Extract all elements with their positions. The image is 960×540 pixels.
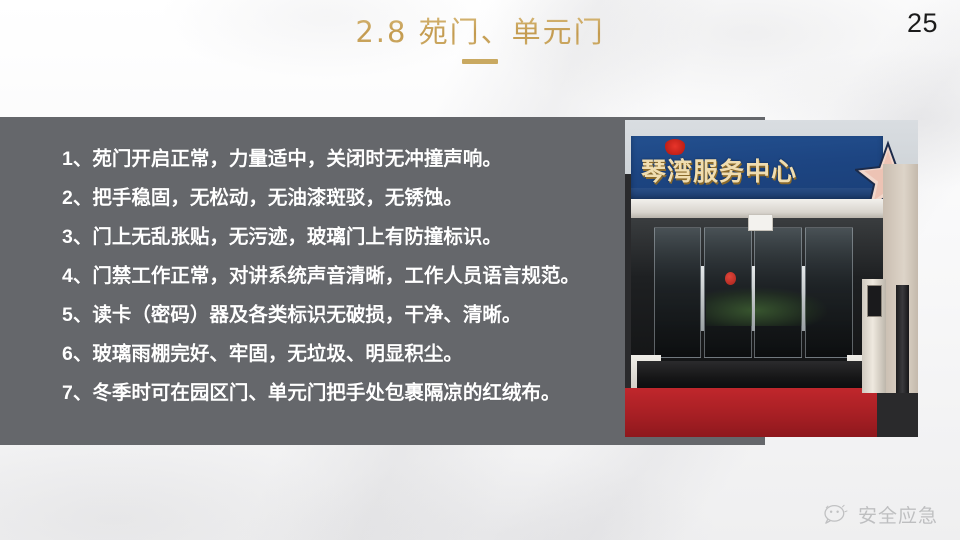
wechat-logo-icon [823, 502, 849, 528]
list-item-number: 5、 [62, 300, 92, 330]
list-item-number: 1、 [62, 144, 92, 174]
photo-signboard-text: 琴湾服务中心 [641, 152, 797, 188]
photo-glass-door [654, 227, 702, 358]
photo-door-mullion [752, 266, 755, 332]
watermark-text: 安全应急 [858, 501, 938, 528]
slide-canvas: 25 2.8 苑门、单元门 1、 苑门开启正常，力量适中，关闭时无冲撞声响。 2… [0, 0, 960, 540]
photo-red-decor [725, 272, 736, 285]
photo-granite-step [637, 361, 871, 390]
title-underline-accent [462, 59, 498, 64]
list-item-text: 门禁工作正常，对讲系统声音清晰，工作人员语言规范。 [92, 261, 580, 291]
photo-content: 琴湾服务中心 [625, 120, 918, 437]
photo-gate-post [896, 285, 909, 393]
photo-door-mullion [802, 266, 805, 332]
list-item: 7、 冬季时可在园区门、单元门把手处包裹隔凉的红绒布。 [62, 378, 722, 417]
title-block: 2.8 苑门、单元门 [0, 14, 960, 64]
list-item-text: 读卡（密码）器及各类标识无破损，干净、清晰。 [92, 300, 521, 330]
photo-door-mullion [701, 266, 704, 332]
photo-red-carpet [625, 388, 877, 437]
list-item-number: 7、 [62, 378, 92, 408]
list-item-number: 3、 [62, 222, 92, 252]
list-item-number: 2、 [62, 183, 92, 213]
list-item: 5、 读卡（密码）器及各类标识无破损，干净、清晰。 [62, 300, 722, 339]
footer-watermark: 安全应急 [823, 501, 938, 528]
list-item-text: 玻璃雨棚完好、牢固，无垃圾、明显积尘。 [92, 339, 463, 369]
list-item: 2、 把手稳固，无松动，无油漆斑驳，无锈蚀。 [62, 183, 722, 222]
checklist: 1、 苑门开启正常，力量适中，关闭时无冲撞声响。 2、 把手稳固，无松动，无油漆… [62, 144, 722, 417]
entrance-photo: 琴湾服务中心 [625, 120, 918, 437]
photo-signboard: 琴湾服务中心 [631, 136, 883, 203]
list-item-number: 4、 [62, 261, 92, 291]
list-item-number: 6、 [62, 339, 92, 369]
photo-access-kiosk [862, 279, 886, 393]
photo-tree-reflection [706, 287, 827, 326]
photo-notice-sign [748, 214, 773, 231]
list-item: 6、 玻璃雨棚完好、牢固，无垃圾、明显积尘。 [62, 339, 722, 378]
list-item: 3、 门上无乱张贴，无污迹，玻璃门上有防撞标识。 [62, 222, 722, 261]
list-item: 4、 门禁工作正常，对讲系统声音清晰，工作人员语言规范。 [62, 261, 722, 300]
photo-storefront-glass [631, 218, 883, 367]
list-item-text: 苑门开启正常，力量适中，关闭时无冲撞声响。 [92, 144, 502, 174]
list-item: 1、 苑门开启正常，力量适中，关闭时无冲撞声响。 [62, 144, 722, 183]
list-item-text: 冬季时可在园区门、单元门把手处包裹隔凉的红绒布。 [92, 378, 560, 408]
list-item-text: 门上无乱张贴，无污迹，玻璃门上有防撞标识。 [92, 222, 502, 252]
page-title: 2.8 苑门、单元门 [0, 14, 960, 50]
list-item-text: 把手稳固，无松动，无油漆斑驳，无锈蚀。 [92, 183, 463, 213]
